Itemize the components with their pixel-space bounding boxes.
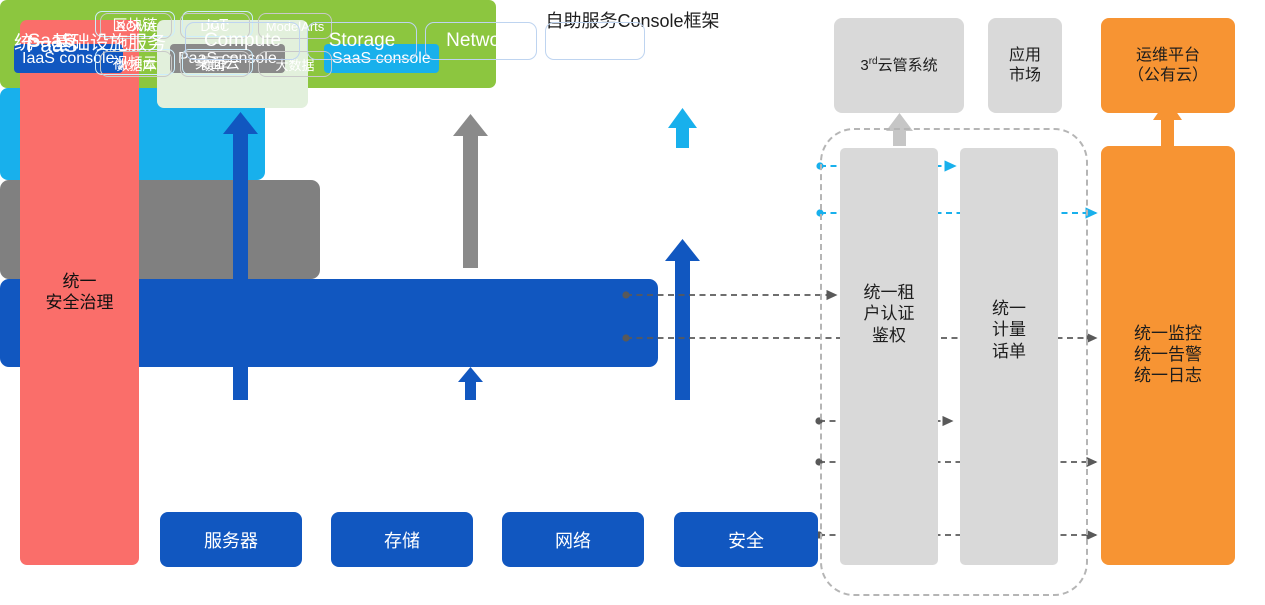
metering-text: 统一 计量 话单 bbox=[960, 298, 1058, 362]
tenant-auth-text: 统一租 户认证 鉴权 bbox=[840, 282, 938, 346]
architecture-diagram: 统一 安全治理 API网关 自助服务Console框架 IaaS console… bbox=[0, 0, 1265, 605]
third-cloud-rest: 云管系统 bbox=[878, 57, 938, 74]
metering-line3: 话单 bbox=[960, 341, 1058, 362]
security-governance-line1: 统一 bbox=[46, 272, 114, 293]
arrow-saas-to-saas-console bbox=[668, 108, 697, 148]
third-party-cloud-mgmt-box: 3rd云管系统 bbox=[834, 18, 964, 113]
hardware-server-box: 服务器 bbox=[160, 512, 302, 567]
ops-platform-line1: 运维平台 bbox=[1128, 46, 1208, 66]
third-cloud-text: 3rd云管系统 bbox=[860, 56, 937, 75]
ops-platform-line2: （公有云） bbox=[1128, 66, 1208, 86]
ops-platform-box: 运维平台 （公有云） bbox=[1101, 18, 1235, 113]
app-market-line2: 市场 bbox=[1009, 66, 1041, 86]
hardware-network-box: 网络 bbox=[502, 512, 644, 567]
security-governance-panel: 统一 安全治理 bbox=[20, 20, 139, 565]
ops-monitor-line2: 统一告警 bbox=[1134, 345, 1202, 366]
unified-infrastructure-label: 统一基础设施服务 bbox=[14, 28, 166, 55]
infra-service-network[interactable]: Network bbox=[425, 22, 537, 60]
tenant-auth-column: 统一租 户认证 鉴权 bbox=[840, 148, 938, 565]
security-governance-line2: 安全治理 bbox=[46, 293, 114, 314]
third-cloud-prefix: 3 bbox=[860, 57, 868, 74]
infra-service-storage[interactable]: Storage bbox=[307, 22, 417, 60]
third-cloud-superscript: rd bbox=[869, 56, 878, 67]
arrow-infra-to-paas bbox=[458, 367, 483, 400]
tenant-auth-line1: 统一租 bbox=[840, 282, 938, 303]
infra-service-cce[interactable]: CCE bbox=[545, 22, 645, 60]
arrow-infra-to-saas bbox=[665, 239, 700, 400]
tenant-auth-line2: 户认证 bbox=[840, 303, 938, 324]
arrow-paas-to-console bbox=[453, 114, 488, 268]
app-market-box: 应用 市场 bbox=[988, 18, 1062, 113]
metering-line1: 统一 bbox=[960, 298, 1058, 319]
metering-billing-column: 统一 计量 话单 bbox=[960, 148, 1058, 565]
metering-line2: 计量 bbox=[960, 319, 1058, 340]
ops-monitor-line1: 统一监控 bbox=[1134, 324, 1202, 345]
hardware-security-box: 安全 bbox=[674, 512, 818, 567]
infra-service-compute[interactable]: Compute bbox=[185, 22, 300, 60]
ops-monitor-panel: 统一监控 统一告警 统一日志 bbox=[1101, 146, 1235, 565]
tenant-auth-line3: 鉴权 bbox=[840, 325, 938, 346]
ops-monitor-line3: 统一日志 bbox=[1134, 366, 1202, 387]
app-market-line1: 应用 bbox=[1009, 46, 1041, 66]
hardware-storage-box: 存储 bbox=[331, 512, 473, 567]
